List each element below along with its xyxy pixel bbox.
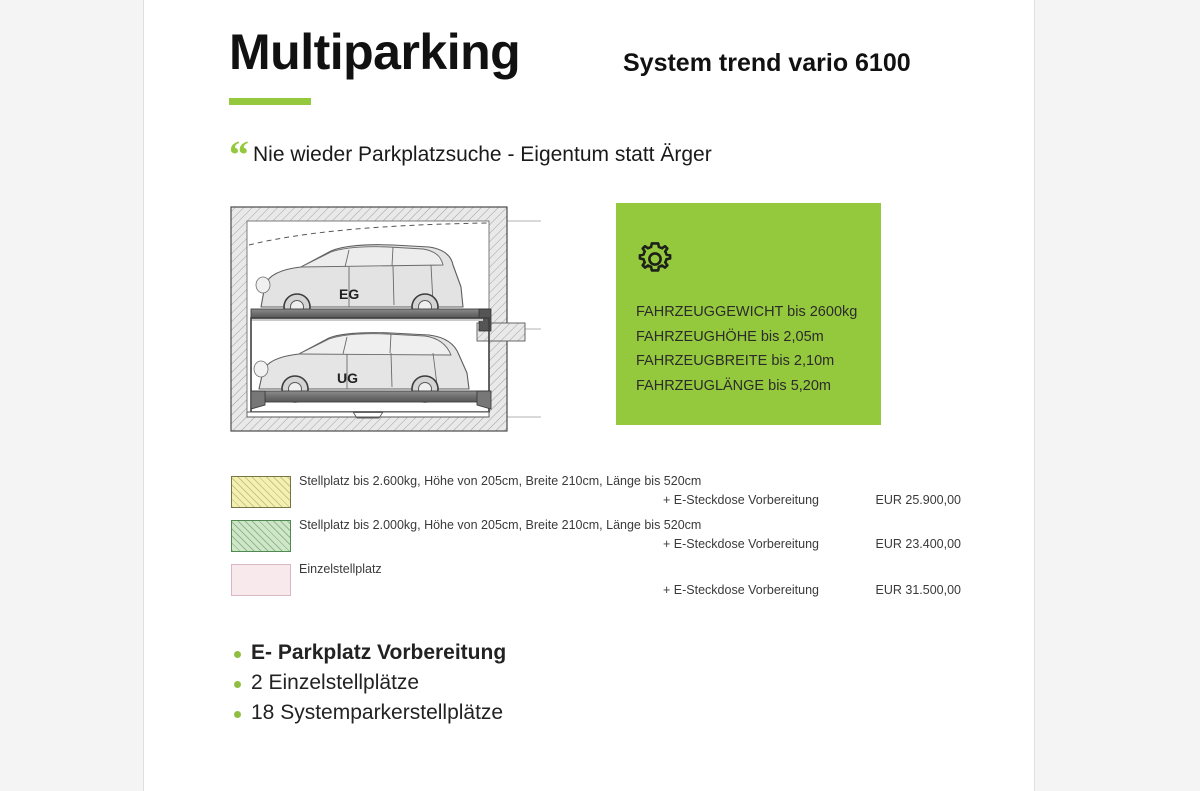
legend-description: Einzelstellplatz — [299, 560, 819, 579]
bullet-dot-icon — [234, 711, 241, 718]
legend-description: Stellplatz bis 2.000kg, Höhe von 205cm, … — [299, 516, 819, 535]
page-title: Multiparking — [229, 22, 520, 82]
list-item: 2 Einzelstellplätze — [229, 668, 969, 698]
spec-line-length: FAHRZEUGLÄNGE bis 5,20m — [636, 374, 871, 399]
legend-addon: + E-Steckdose Vorbereitung — [299, 581, 819, 600]
quote-icon: “ — [229, 145, 249, 165]
list-item-label: E- Parkplatz Vorbereitung — [251, 641, 506, 664]
document-page: Multiparking System trend vario 6100 “ N… — [143, 0, 1035, 791]
legend-row: Stellplatz bis 2.000kg, Höhe von 205cm, … — [229, 516, 969, 560]
tagline-text: Nie wieder Parkplatzsuche - Eigentum sta… — [253, 143, 712, 167]
list-item-label: 2 Einzelstellplätze — [251, 671, 419, 694]
upper-level-label: EG — [339, 286, 359, 302]
legend-row: Einzelstellplatz + E-Steckdose Vorbereit… — [229, 560, 969, 604]
legend-swatch-yellow — [231, 476, 291, 508]
content-column: Multiparking System trend vario 6100 “ N… — [229, 0, 969, 791]
gear-icon — [636, 240, 674, 278]
feature-list: E- Parkplatz Vorbereitung 2 Einzelstellp… — [229, 638, 969, 728]
page-subtitle: System trend vario 6100 — [623, 47, 911, 79]
lower-level-label: UG — [337, 370, 358, 386]
vehicle-specs-box: FAHRZEUGGEWICHT bis 2600kg FAHRZEUGHÖHE … — [616, 203, 881, 425]
legend-addon: + E-Steckdose Vorbereitung — [299, 535, 819, 554]
list-item-label: 18 Systemparkerstellplätze — [251, 701, 503, 724]
spec-line-width: FAHRZEUGBREITE bis 2,10m — [636, 349, 871, 374]
legend-row: Stellplatz bis 2.600kg, Höhe von 205cm, … — [229, 472, 969, 516]
spec-line-height: FAHRZEUGHÖHE bis 2,05m — [636, 325, 871, 350]
list-item: 18 Systemparkerstellplätze — [229, 698, 969, 728]
legend-swatch-pink — [231, 564, 291, 596]
legend-text: Stellplatz bis 2.000kg, Höhe von 205cm, … — [299, 516, 819, 554]
list-item: E- Parkplatz Vorbereitung — [229, 638, 969, 668]
tagline: “ Nie wieder Parkplatzsuche - Eigentum s… — [229, 138, 969, 172]
page-header: Multiparking System trend vario 6100 — [229, 22, 969, 112]
spec-list: FAHRZEUGGEWICHT bis 2600kg FAHRZEUGHÖHE … — [636, 300, 871, 398]
parking-system-diagram: EG — [229, 205, 544, 435]
legend-text: Stellplatz bis 2.600kg, Höhe von 205cm, … — [299, 472, 819, 510]
legend-price: EUR 23.400,00 — [876, 535, 961, 554]
legend-price: EUR 25.900,00 — [876, 491, 961, 510]
spec-line-weight: FAHRZEUGGEWICHT bis 2600kg — [636, 300, 871, 325]
price-legend: Stellplatz bis 2.600kg, Höhe von 205cm, … — [229, 472, 969, 604]
accent-bar — [229, 98, 311, 105]
dimension-lines — [507, 221, 541, 417]
legend-price: EUR 31.500,00 — [876, 581, 961, 600]
legend-swatch-green — [231, 520, 291, 552]
bullet-dot-icon — [234, 651, 241, 658]
legend-addon: + E-Steckdose Vorbereitung — [299, 491, 819, 510]
bullet-dot-icon — [234, 681, 241, 688]
legend-description: Stellplatz bis 2.600kg, Höhe von 205cm, … — [299, 472, 819, 491]
legend-text: Einzelstellplatz + E-Steckdose Vorbereit… — [299, 560, 819, 600]
